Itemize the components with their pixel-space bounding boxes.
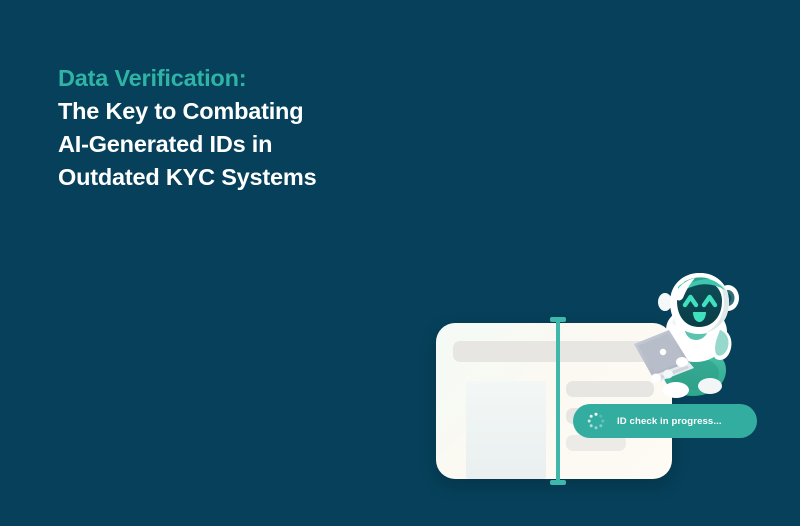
divider-cap-bottom bbox=[550, 480, 566, 485]
illustration: ID check in progress... bbox=[420, 262, 800, 526]
robot-illustration bbox=[632, 272, 762, 407]
robot-foot-right bbox=[698, 378, 722, 394]
status-badge-label: ID check in progress... bbox=[617, 416, 722, 427]
placeholder-bar-header bbox=[453, 341, 654, 362]
headline-line-4: Outdated KYC Systems bbox=[58, 161, 478, 194]
robot-ear-left bbox=[658, 293, 672, 311]
status-badge[interactable]: ID check in progress... bbox=[573, 404, 757, 438]
photo-background bbox=[466, 381, 546, 479]
card-divider-line bbox=[556, 317, 560, 485]
loading-spinner-icon bbox=[587, 412, 605, 430]
page-title: Data Verification: The Key to Combating … bbox=[58, 62, 478, 194]
hero-banner: Data Verification: The Key to Combating … bbox=[0, 0, 800, 526]
id-photo bbox=[466, 381, 546, 479]
divider-cap-top bbox=[550, 317, 566, 322]
robot-mascot bbox=[632, 272, 762, 407]
headline-line-1: Data Verification: bbox=[58, 62, 478, 95]
headline-line-3: AI-Generated IDs in bbox=[58, 128, 478, 161]
headline-line-2: The Key to Combating bbox=[58, 95, 478, 128]
robot-hand bbox=[676, 357, 688, 367]
robot-foot-left bbox=[663, 382, 689, 398]
